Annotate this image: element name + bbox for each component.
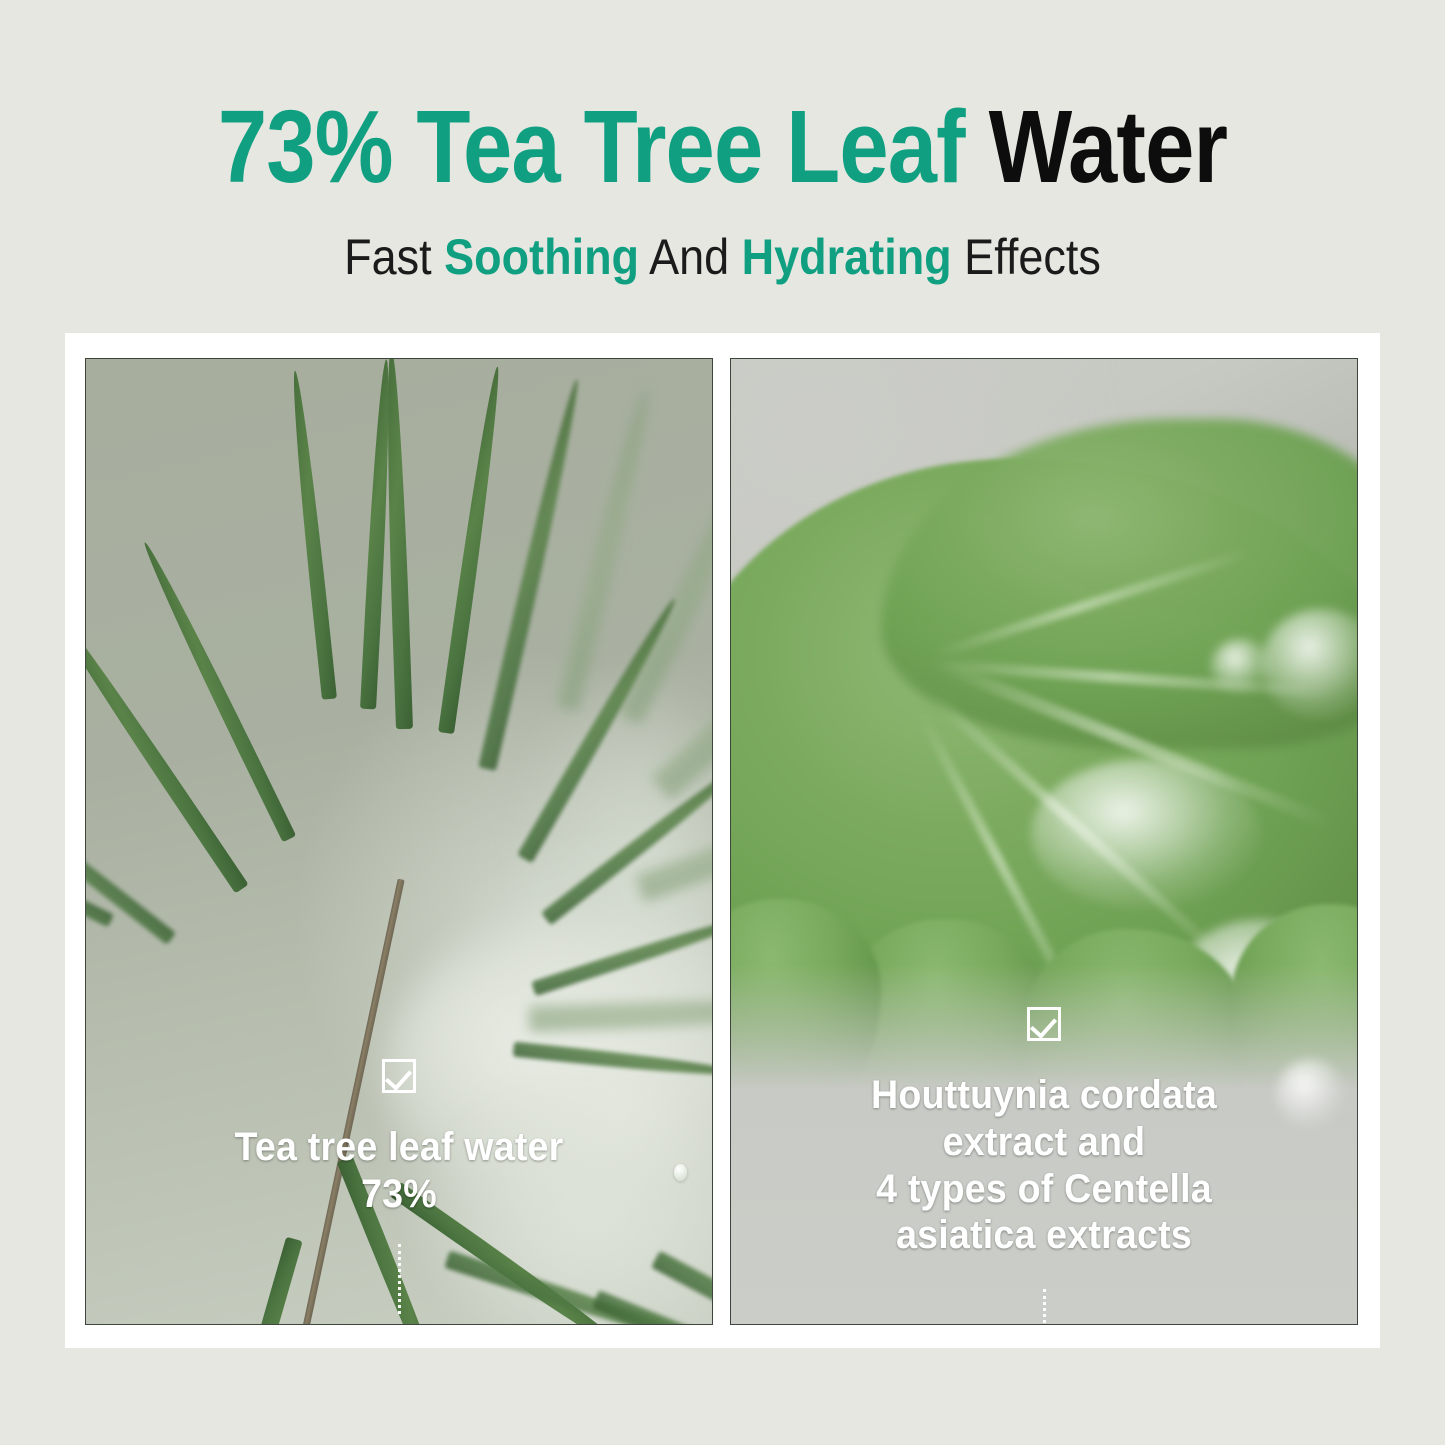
subtitle-highlight-hydrating: Hydrating (742, 229, 952, 285)
water-droplet (1211, 639, 1271, 694)
dotted-connector-line (398, 1244, 401, 1314)
page-title-highlight: 73% Tea Tree Leaf (218, 89, 989, 204)
ingredient-panel-tea-tree: Tea tree leaf water 73% Soothes skin (85, 358, 713, 1325)
leaf-highlight (1031, 759, 1261, 909)
leaf-blade (438, 365, 505, 734)
page-title-plain: Water (989, 89, 1228, 204)
subtitle-part-1: Fast (344, 229, 444, 285)
houttuynia-headline-line-3: 4 types of Centella (750, 1166, 1338, 1213)
leaf-blade (86, 586, 249, 893)
houttuynia-headline-line-4: asiatica extracts (750, 1212, 1338, 1259)
tea-tree-headline-line-2: 73% (105, 1171, 693, 1218)
tea-tree-caption-block: Tea tree leaf water 73% Soothes skin (86, 1059, 712, 1325)
subtitle-highlight-soothing: Soothing (444, 229, 639, 285)
subtitle-part-3: Effects (952, 229, 1101, 285)
leaf-blade (86, 783, 114, 927)
leaf-blade (383, 359, 413, 729)
leaf-blade (138, 539, 296, 842)
subtitle-part-2: And (639, 229, 742, 285)
tea-tree-headline: Tea tree leaf water 73% (105, 1124, 693, 1218)
page-subtitle: Fast Soothing And Hydrating Effects (72, 232, 1373, 282)
ingredient-panel-houttuynia: Houttuynia cordata extract and 4 types o… (730, 358, 1358, 1325)
checkbox-checked-icon (1027, 1007, 1061, 1041)
houttuynia-headline: Houttuynia cordata extract and 4 types o… (750, 1072, 1338, 1259)
header-section: 73% Tea Tree Leaf Water Fast Soothing An… (0, 0, 1445, 333)
houttuynia-headline-line-1: Houttuynia cordata (750, 1072, 1338, 1119)
dotted-connector-line (1043, 1289, 1046, 1325)
leaf-blade (288, 370, 337, 700)
page-title: 73% Tea Tree Leaf Water (101, 95, 1344, 198)
tea-tree-headline-line-1: Tea tree leaf water (105, 1124, 693, 1171)
checkbox-checked-icon (382, 1059, 416, 1093)
houttuynia-headline-line-2: extract and (750, 1119, 1338, 1166)
houttuynia-caption-block: Houttuynia cordata extract and 4 types o… (731, 1007, 1357, 1325)
